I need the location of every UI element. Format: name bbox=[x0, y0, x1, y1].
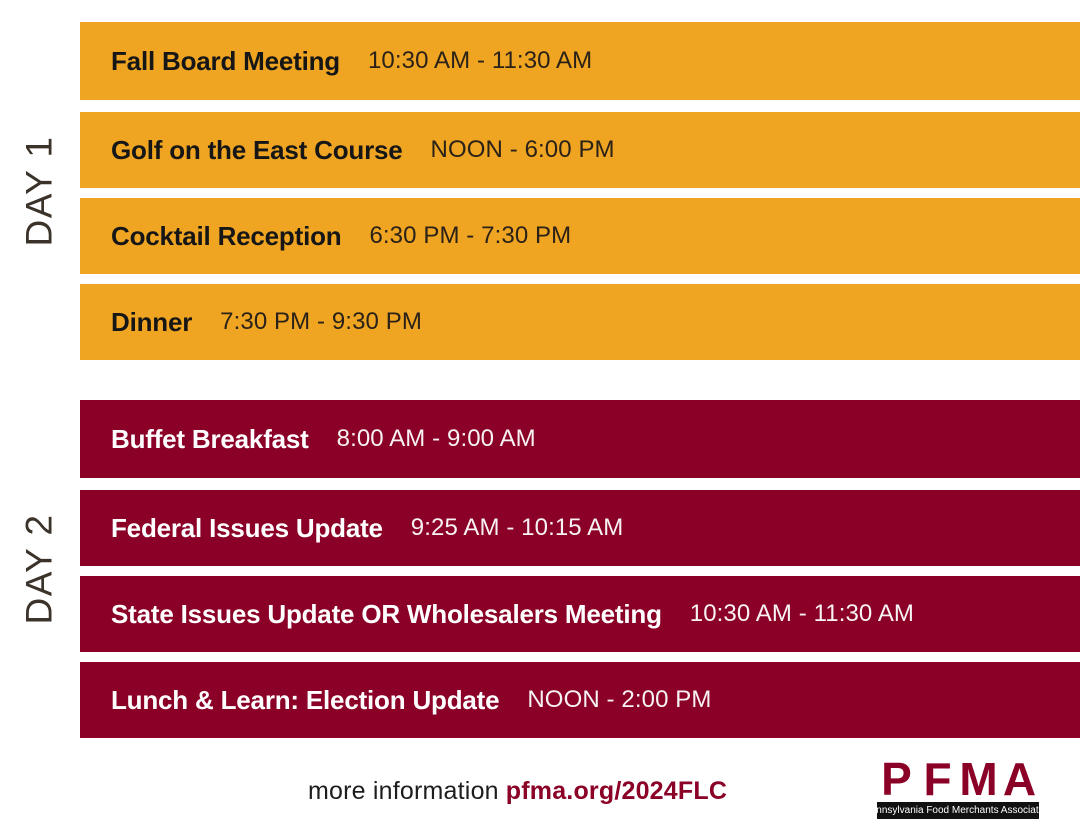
pfma-logo-letter-f: F bbox=[918, 755, 959, 802]
pfma-logo-letter-m: M bbox=[959, 755, 1000, 802]
event-time: NOON - 6:00 PM bbox=[431, 136, 615, 164]
event-title: State Issues Update OR Wholesalers Meeti… bbox=[111, 599, 662, 630]
event-time: 8:00 AM - 9:00 AM bbox=[337, 425, 536, 453]
event-time: 7:30 PM - 9:30 PM bbox=[220, 308, 422, 336]
schedule-row[interactable]: State Issues Update OR Wholesalers Meeti… bbox=[80, 576, 1080, 652]
more-information-label: more information bbox=[308, 777, 499, 805]
schedule-row[interactable]: Cocktail Reception 6:30 PM - 7:30 PM bbox=[80, 198, 1080, 274]
footer: more informationpfma.org/2024FLC P F M A… bbox=[0, 752, 1080, 833]
schedule-row[interactable]: Lunch & Learn: Election Update NOON - 2:… bbox=[80, 662, 1080, 738]
day-label-1: DAY 1 bbox=[0, 22, 80, 360]
event-title: Federal Issues Update bbox=[111, 513, 383, 544]
event-time: 9:25 AM - 10:15 AM bbox=[411, 514, 624, 542]
event-time: NOON - 2:00 PM bbox=[527, 686, 711, 714]
schedule-row[interactable]: Buffet Breakfast 8:00 AM - 9:00 AM bbox=[80, 400, 1080, 478]
pfma-logo-letters: P F M A bbox=[877, 755, 1039, 802]
event-time: 10:30 AM - 11:30 AM bbox=[368, 47, 592, 75]
pfma-logo: P F M A Pennsylvania Food Merchants Asso… bbox=[877, 755, 1039, 821]
schedule-row[interactable]: Fall Board Meeting 10:30 AM - 11:30 AM bbox=[80, 22, 1080, 100]
day-group-2: DAY 2 Buffet Breakfast 8:00 AM - 9:00 AM… bbox=[0, 400, 1080, 737]
day-1-bars: Fall Board Meeting 10:30 AM - 11:30 AM G… bbox=[80, 22, 1080, 360]
pfma-logo-letter-p: P bbox=[877, 755, 918, 802]
event-title: Cocktail Reception bbox=[111, 221, 341, 252]
event-url-link[interactable]: pfma.org/2024FLC bbox=[506, 777, 727, 805]
day-group-1: DAY 1 Fall Board Meeting 10:30 AM - 11:3… bbox=[0, 22, 1080, 360]
event-time: 10:30 AM - 11:30 AM bbox=[690, 600, 914, 628]
event-title: Lunch & Learn: Election Update bbox=[111, 685, 499, 716]
schedule-row[interactable]: Dinner 7:30 PM - 9:30 PM bbox=[80, 284, 1080, 360]
event-title: Buffet Breakfast bbox=[111, 424, 309, 455]
day-label-2-text: DAY 2 bbox=[19, 513, 61, 624]
pfma-logo-tagline: Pennsylvania Food Merchants Association bbox=[877, 802, 1039, 819]
schedule-row[interactable]: Golf on the East Course NOON - 6:00 PM bbox=[80, 112, 1080, 188]
event-title: Golf on the East Course bbox=[111, 135, 403, 166]
day-2-bars: Buffet Breakfast 8:00 AM - 9:00 AM Feder… bbox=[80, 400, 1080, 737]
more-information: more informationpfma.org/2024FLC bbox=[308, 777, 727, 806]
event-time: 6:30 PM - 7:30 PM bbox=[369, 222, 571, 250]
pfma-logo-letter-a: A bbox=[1000, 755, 1039, 802]
day-label-1-text: DAY 1 bbox=[19, 135, 61, 246]
day-label-2: DAY 2 bbox=[0, 400, 80, 737]
schedule-row[interactable]: Federal Issues Update 9:25 AM - 10:15 AM bbox=[80, 490, 1080, 566]
event-title: Fall Board Meeting bbox=[111, 46, 340, 77]
event-title: Dinner bbox=[111, 307, 192, 338]
conference-schedule: DAY 1 Fall Board Meeting 10:30 AM - 11:3… bbox=[0, 0, 1080, 833]
